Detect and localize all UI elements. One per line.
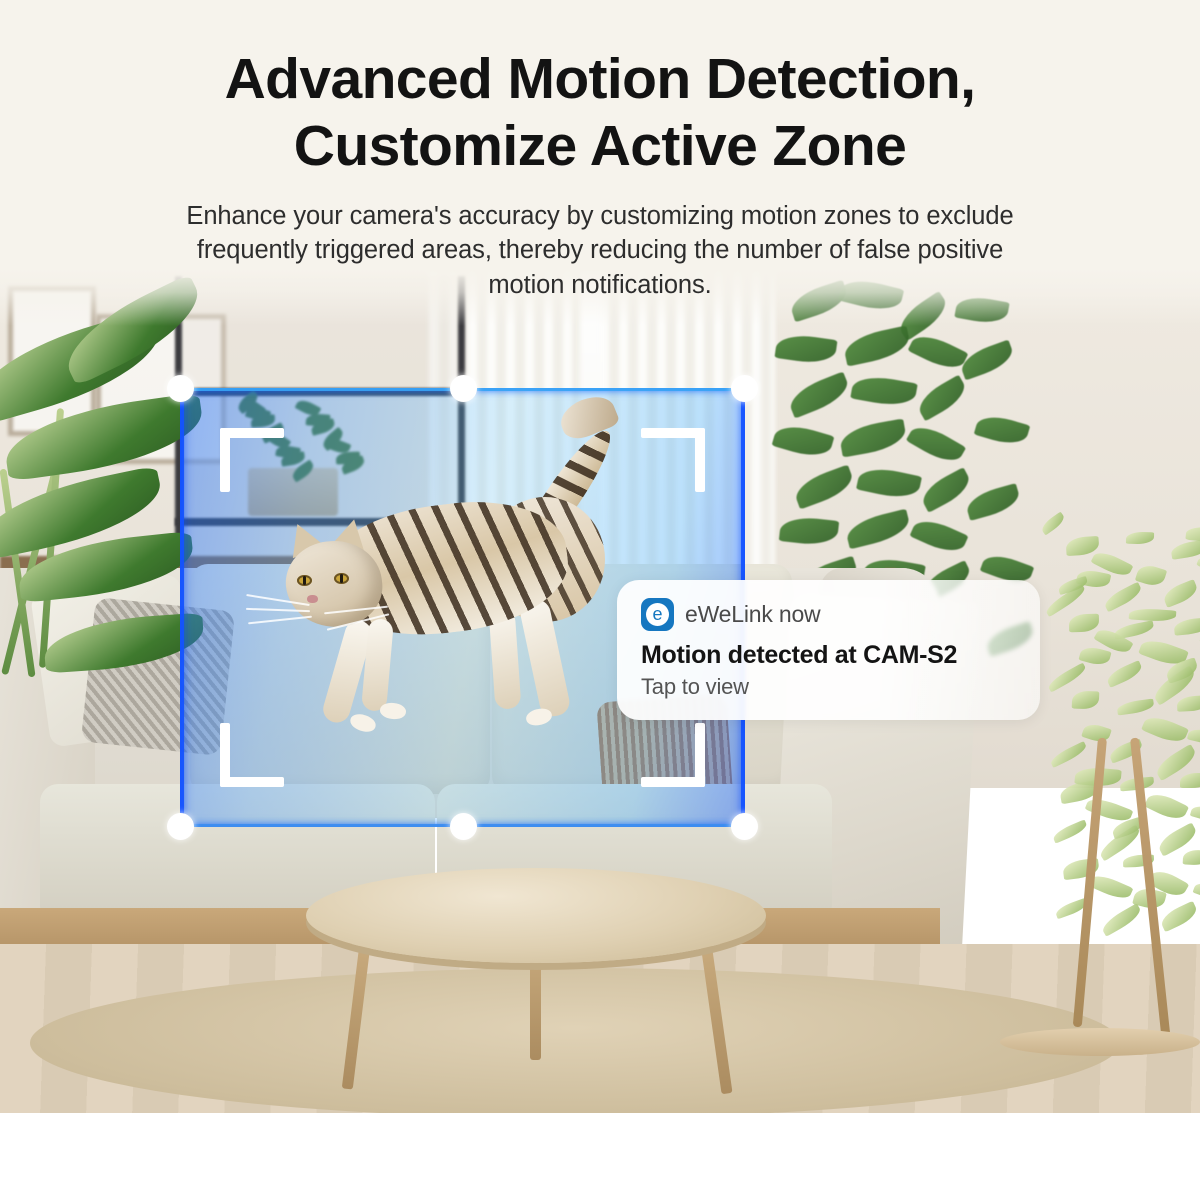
leaf-shape <box>1196 553 1200 582</box>
leaf-shape <box>909 514 968 558</box>
zone-handle-top-left[interactable] <box>167 375 194 402</box>
notification-title: Motion detected at CAM-S2 <box>641 641 1018 670</box>
page-subtitle: Enhance your camera's accuracy by custom… <box>0 199 1200 303</box>
leaf-shape <box>958 339 1017 380</box>
leaf-shape <box>856 464 922 502</box>
cat-eye <box>297 575 312 586</box>
round-rug <box>30 968 1120 1113</box>
zone-handle-bottom-center[interactable] <box>450 813 477 840</box>
leaf-shape <box>1158 901 1200 932</box>
leaf-shape <box>917 467 974 513</box>
leaf-shape <box>913 375 970 422</box>
zone-handle-top-right[interactable] <box>731 375 758 402</box>
headline-line-2: Customize Active Zone <box>0 113 1200 180</box>
leaf-shape <box>1099 903 1143 937</box>
cat-paw <box>379 702 407 721</box>
leaf-shape <box>1180 773 1200 788</box>
zone-handle-bottom-right[interactable] <box>731 813 758 840</box>
subtitle-line-2: frequently triggered areas, thereby redu… <box>84 233 1116 268</box>
ewelink-logo-letter: e <box>646 603 669 626</box>
leaf-shape <box>1177 695 1200 712</box>
leaf-shape <box>1072 691 1100 710</box>
leaf-shape <box>964 483 1023 521</box>
leaf-shape <box>1105 660 1144 688</box>
cat-whisker <box>248 616 312 624</box>
cat-paw <box>348 711 378 734</box>
leaf-shape <box>974 411 1031 448</box>
subtitle-line-3: motion notifications. <box>84 268 1116 303</box>
leaf-shape <box>908 329 969 375</box>
leaf-shape <box>838 418 908 457</box>
leaf-shape <box>1051 819 1088 843</box>
leaf-shape <box>1190 803 1200 823</box>
leaf-shape <box>1144 789 1189 824</box>
header-block: Advanced Motion Detection, Customize Act… <box>0 0 1200 303</box>
leaf-shape <box>1173 617 1200 636</box>
potted-plant-right <box>1040 518 1200 998</box>
cat-subject <box>230 423 650 753</box>
promo-page: e eWeLink now Motion detected at CAM-S2 … <box>0 0 1200 1200</box>
corner-bracket-bottom-right-icon <box>641 723 705 787</box>
zone-handle-top-center[interactable] <box>450 375 477 402</box>
leaf-shape <box>1065 536 1099 556</box>
leaf-shape <box>842 325 912 366</box>
leaf-shape <box>779 515 839 547</box>
leaf-shape <box>1183 849 1200 865</box>
leaf-shape <box>785 371 852 418</box>
leaf-shape <box>1141 712 1189 747</box>
leaf-shape <box>850 373 918 410</box>
leaf-shape <box>1193 880 1200 901</box>
cat-paw <box>525 706 554 727</box>
page-title: Advanced Motion Detection, Customize Act… <box>0 0 1200 181</box>
cat-nose <box>307 595 318 603</box>
subtitle-line-1: Enhance your camera's accuracy by custom… <box>84 199 1116 234</box>
leaf-shape <box>1116 698 1154 715</box>
leaf-shape <box>1161 579 1200 608</box>
leaf-shape <box>1046 663 1088 693</box>
leaf-shape <box>1170 539 1200 560</box>
leaf-shape <box>1081 721 1112 745</box>
leaf-shape <box>1126 532 1154 544</box>
bottom-white-strip <box>0 1113 1200 1200</box>
leaf-shape <box>844 509 912 550</box>
corner-bracket-top-right-icon <box>641 428 705 492</box>
headline-line-1: Advanced Motion Detection, <box>225 47 976 111</box>
leaf-shape <box>774 332 837 366</box>
notification-card[interactable]: e eWeLink now Motion detected at CAM-S2 … <box>617 580 1040 720</box>
side-table <box>1000 1028 1200 1056</box>
leaf-shape <box>1069 614 1099 633</box>
leaf-shape <box>772 421 835 462</box>
leaf-shape <box>1049 741 1089 768</box>
leaf-shape <box>1102 582 1144 613</box>
notification-action-hint: Tap to view <box>641 674 1018 700</box>
ewelink-app-icon: e <box>641 598 674 631</box>
leaf-shape <box>1187 727 1200 747</box>
living-room-photo: e eWeLink now Motion detected at CAM-S2 … <box>0 268 1200 1113</box>
leaf-shape <box>906 420 966 469</box>
leaf-shape <box>791 465 856 510</box>
notification-header: e eWeLink now <box>641 598 1018 631</box>
notification-app-name: eWeLink now <box>685 601 820 628</box>
coffee-table <box>306 868 766 963</box>
leaf-shape <box>1129 607 1177 622</box>
cat-eye <box>334 573 349 584</box>
zone-edge-left <box>180 388 184 827</box>
zone-handle-bottom-left[interactable] <box>167 813 194 840</box>
